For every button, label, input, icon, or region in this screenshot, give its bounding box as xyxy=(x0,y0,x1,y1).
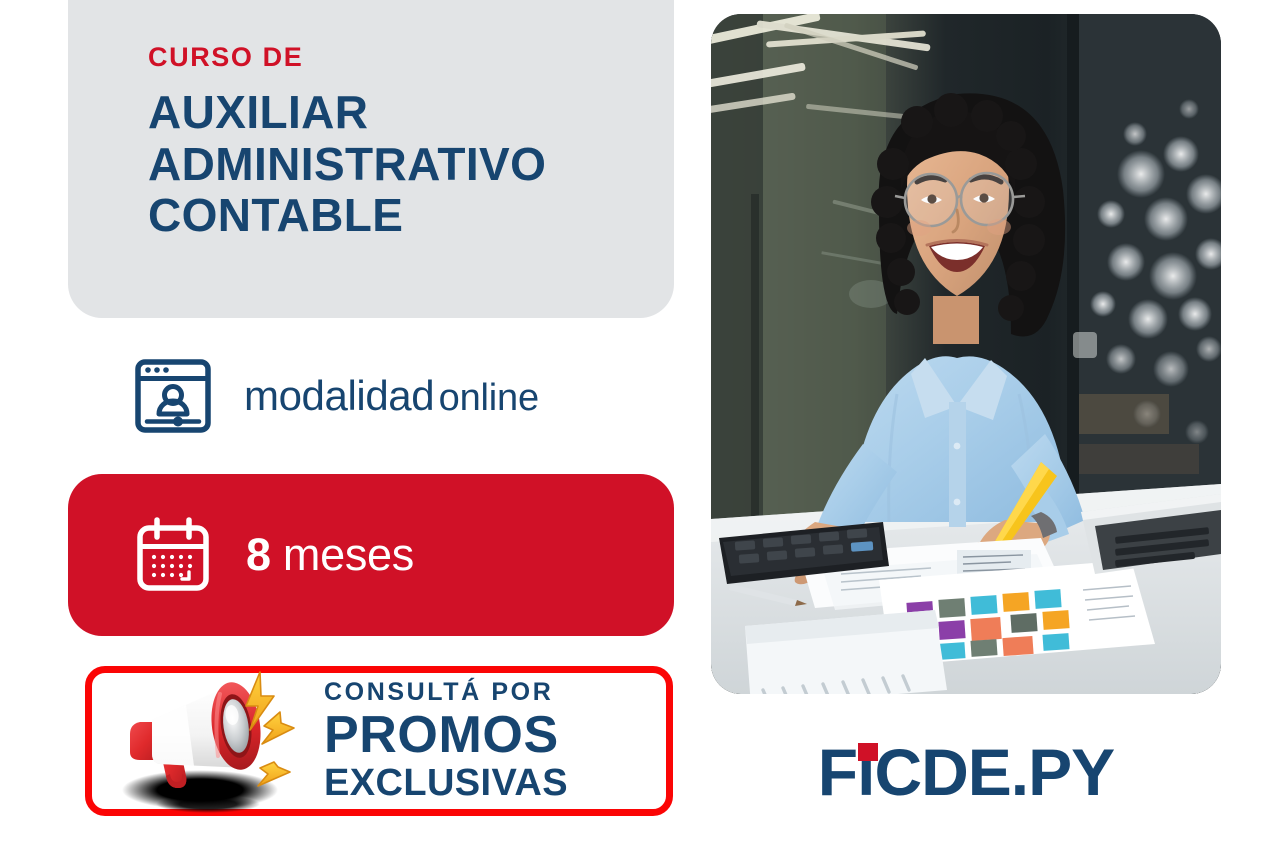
course-title-line-1: AUXILIAR xyxy=(148,87,654,139)
promo-line-1: CONSULTÁ POR xyxy=(324,680,568,705)
promo-callout-box[interactable]: CONSULTÁ POR PROMOS EXCLUSIVAS xyxy=(85,666,673,816)
brand-logo-area: FiCDE.PY xyxy=(711,730,1221,814)
modality-text: modalidad online xyxy=(244,374,539,419)
course-title-line-2: ADMINISTRATIVO xyxy=(148,139,654,191)
course-kicker: CURSO DE xyxy=(148,44,654,71)
left-content-column: CURSO DE AUXILIAR ADMINISTRATIVO CONTABL… xyxy=(0,0,700,853)
course-title-inner: CURSO DE AUXILIAR ADMINISTRATIVO CONTABL… xyxy=(148,44,654,242)
page-title: AUXILIAR ADMINISTRATIVO CONTABLE xyxy=(148,87,654,242)
promo-flyer: CURSO DE AUXILIAR ADMINISTRATIVO CONTABL… xyxy=(0,0,1281,853)
modality-card: modalidad online xyxy=(68,318,674,474)
course-title-line-3: CONTABLE xyxy=(148,190,654,242)
modality-row: modalidad online xyxy=(134,318,539,474)
modality-line-1: modalidad xyxy=(244,372,434,419)
browser-person-video-icon xyxy=(134,357,212,435)
course-title-panel: CURSO DE AUXILIAR ADMINISTRATIVO CONTABL… xyxy=(68,0,674,318)
logo-accent-dot xyxy=(858,743,878,761)
promo-row: CONSULTÁ POR PROMOS EXCLUSIVAS xyxy=(92,673,666,809)
calendar-icon xyxy=(134,516,212,594)
hero-photo xyxy=(711,14,1221,694)
promo-line-2: PROMOS xyxy=(324,709,568,761)
brand-logo: FiCDE.PY xyxy=(818,739,1114,805)
promo-line-3: EXCLUSIVAS xyxy=(324,764,568,802)
duration-unit: meses xyxy=(271,529,414,580)
duration-row: 8 meses xyxy=(134,474,414,636)
duration-text: 8 meses xyxy=(246,529,414,581)
megaphone-icon xyxy=(92,666,324,816)
promo-text: CONSULTÁ POR PROMOS EXCLUSIVAS xyxy=(324,680,568,802)
duration-band: 8 meses xyxy=(68,474,674,636)
duration-number: 8 xyxy=(246,529,271,580)
modality-line-2: online xyxy=(439,377,539,419)
